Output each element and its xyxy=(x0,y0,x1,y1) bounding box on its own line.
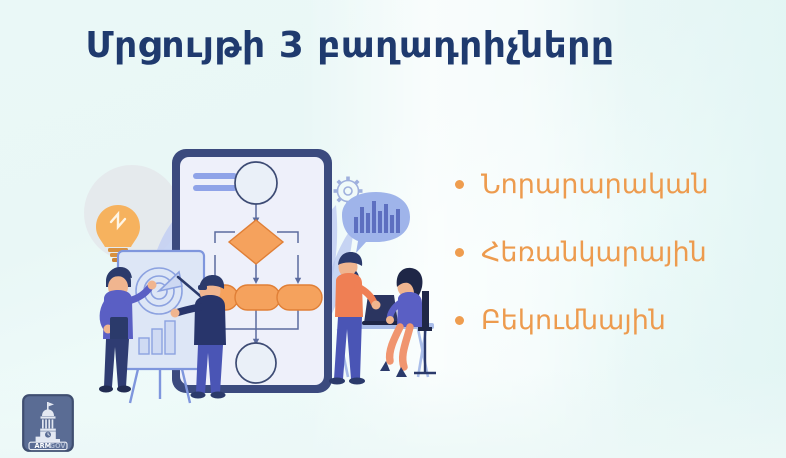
flowchart-end-node xyxy=(236,343,276,383)
slide-canvas: Մրցույթի 3 բաղադրիչները xyxy=(0,0,786,458)
tablet-header-bar xyxy=(193,185,237,191)
illustration xyxy=(60,95,460,415)
list-item: Նորարարական xyxy=(455,150,775,218)
speech-bubble-chart xyxy=(342,192,410,253)
list-item: Բեկումնային xyxy=(455,286,775,354)
right-scene xyxy=(329,192,436,385)
bullet-dot-icon xyxy=(455,316,464,325)
slide-title: Մրցույթի 3 բաղադրիչները xyxy=(0,24,700,67)
list-item: Հեռանկարային xyxy=(455,218,775,286)
logo-text-gov: GOV xyxy=(50,442,67,450)
person-seated-right xyxy=(380,268,436,377)
flowchart-task-node xyxy=(235,285,280,310)
flowchart-task-node xyxy=(277,285,322,310)
tablet-header-bar xyxy=(193,173,237,179)
armgov-logo[interactable]: ARM GOV xyxy=(22,394,74,452)
list-item-label: Բեկումնային xyxy=(481,305,666,336)
bullet-list: Նորարարական Հեռանկարային Բեկումնային xyxy=(455,150,775,354)
list-item-label: Հեռանկարային xyxy=(481,237,707,268)
bullet-dot-icon xyxy=(455,180,464,189)
flowchart-start-node xyxy=(235,162,277,204)
list-item-label: Նորարարական xyxy=(481,169,709,200)
bullet-dot-icon xyxy=(455,248,464,257)
